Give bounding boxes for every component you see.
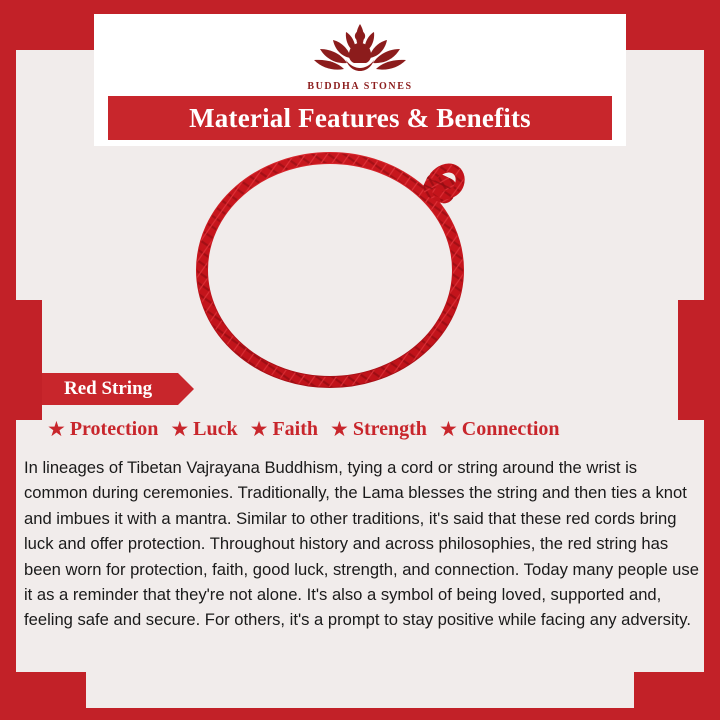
frame-bar-bottom <box>0 708 720 720</box>
frame-corner-bottom-left <box>16 672 86 708</box>
benefits-list: ★ Protection ★ Luck ★ Faith ★ Strength ★… <box>42 418 682 441</box>
description-text: In lineages of Tibetan Vajrayana Buddhis… <box>24 455 700 633</box>
frame-bar-top <box>0 0 720 14</box>
brand-logo: BUDDHA STONES <box>0 16 720 92</box>
benefit-item: ★ Connection <box>434 418 565 441</box>
benefit-item: ★ Strength <box>325 418 432 441</box>
benefit-item: ★ Faith <box>245 418 323 441</box>
star-icon: ★ <box>330 419 349 440</box>
frame-corner-bottom-right <box>634 672 704 708</box>
frame-notch-right <box>678 300 704 420</box>
product-name-label: Red String <box>64 378 152 400</box>
product-image <box>42 146 678 396</box>
star-icon: ★ <box>170 419 189 440</box>
star-icon: ★ <box>250 419 269 440</box>
frame-bar-left <box>0 0 16 720</box>
product-name-tag: Red String <box>42 373 178 405</box>
star-icon: ★ <box>47 419 66 440</box>
lotus-meditation-icon <box>0 16 720 78</box>
brand-name: BUDDHA STONES <box>0 81 720 92</box>
benefit-label: Connection <box>462 418 560 441</box>
benefit-label: Faith <box>272 418 318 441</box>
frame-bar-right <box>704 0 720 720</box>
infographic-page: BUDDHA STONES Material Features & Benefi… <box>0 0 720 720</box>
star-icon: ★ <box>439 419 458 440</box>
page-title: Material Features & Benefits <box>189 103 531 134</box>
benefit-label: Strength <box>353 418 427 441</box>
benefit-label: Protection <box>70 418 159 441</box>
frame-notch-left <box>16 300 42 420</box>
benefit-label: Luck <box>193 418 237 441</box>
benefit-item: ★ Protection <box>42 418 163 441</box>
benefit-item: ★ Luck <box>165 418 242 441</box>
title-banner: Material Features & Benefits <box>108 96 612 140</box>
